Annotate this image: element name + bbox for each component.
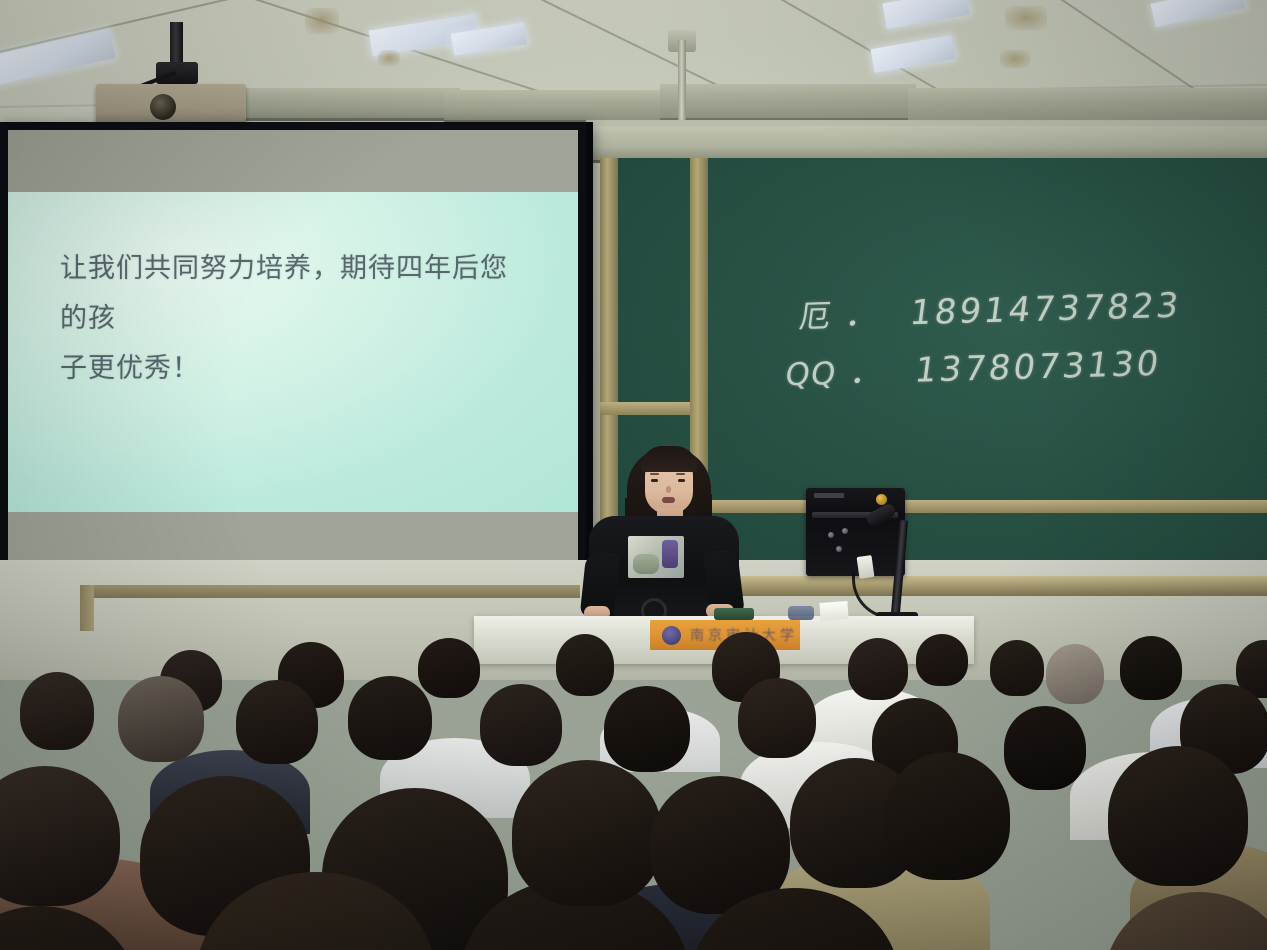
desk-object-green [714,608,754,620]
ceiling-water-stain [305,8,339,34]
presenter-eye [678,479,685,482]
audience-head [348,676,432,760]
lecture-hall-photo: 厄 ． 18914737823 QQ ． 1378073130 让我们共同努力培… [0,0,1267,950]
audience-head [738,678,816,758]
audience-head-gray [118,676,204,762]
presenter-mouth [662,497,675,503]
audience-head [1004,706,1086,790]
blackboard-qq-number: 1378073130 [912,344,1163,391]
audience-head [556,634,614,696]
audience-head [916,634,968,686]
audience-head [990,640,1044,696]
audience-head-foreground [1108,746,1248,886]
audience-head-foreground [884,752,1010,880]
ceiling-water-stain [378,50,400,66]
presenter-shirt-graphic [628,536,684,578]
audience-head-gray [1046,644,1104,704]
presenter-eyebrow [676,473,685,475]
presentation-slide: 让我们共同努力培养，期待四年后您的孩 子更优秀！ [8,192,578,512]
monitor-brand-label [814,493,844,498]
mic-adjust-knob[interactable] [876,494,887,505]
ceiling-water-stain [1005,6,1047,30]
audience-head [480,684,562,766]
audience-head [604,686,690,772]
desk-object-blue [788,606,814,620]
presenter-hair-fringe [641,446,697,472]
fluorescent-panel [1151,0,1246,27]
audience-head [20,672,94,750]
desk-paper [819,601,848,621]
shirt-graphic-figure [662,540,678,568]
projection-screen: 让我们共同努力培养，期待四年后您的孩 子更优秀！ [0,122,593,574]
ceiling-water-stain [1000,50,1030,68]
blackboard-qq-label: QQ [783,356,838,394]
audience-head [1120,636,1182,700]
ceiling-beam [660,84,916,121]
blackboard-phone-separator: ． [843,294,885,335]
fluorescent-panel [871,35,956,73]
monitor-menu-button[interactable] [842,528,848,534]
desktop-monitor[interactable] [806,488,905,576]
fluorescent-panel [882,0,969,29]
audience-head [418,638,480,698]
presenter-eyebrow [650,473,659,475]
audience-head-foreground [512,760,662,906]
blackboard-qq-separator: ． [848,351,890,392]
presenter-nose [666,486,671,493]
blackboard-frame-rail [600,402,690,415]
shirt-graphic-foliage [633,554,659,574]
audience-head [236,680,318,764]
blackboard-frame-rail [690,500,1267,513]
blackboard-phone-number: 18914737823 [908,286,1184,334]
slide-line-1: 让我们共同努力培养，期待四年后您的孩 [60,244,530,344]
presenter-eye [651,479,658,482]
audience-head [848,638,908,700]
projection-screen-letterbox: 让我们共同努力培养，期待四年后您的孩 子更优秀！ [8,130,578,566]
audience-head-foreground [0,766,120,906]
ceiling-beam [240,88,460,121]
screen-lower-rail [80,585,580,598]
audience [0,620,1267,950]
monitor-power-button[interactable] [828,532,834,538]
ceiling-beam [444,90,666,123]
blackboard-phone-label: 厄 [797,298,834,335]
slide-line-2: 子更优秀！ [60,344,530,394]
monitor-control-button[interactable] [836,546,842,552]
projector-lens [150,94,176,120]
slide-text-block: 让我们共同努力培养，期待四年后您的孩 子更优秀！ [60,244,530,394]
